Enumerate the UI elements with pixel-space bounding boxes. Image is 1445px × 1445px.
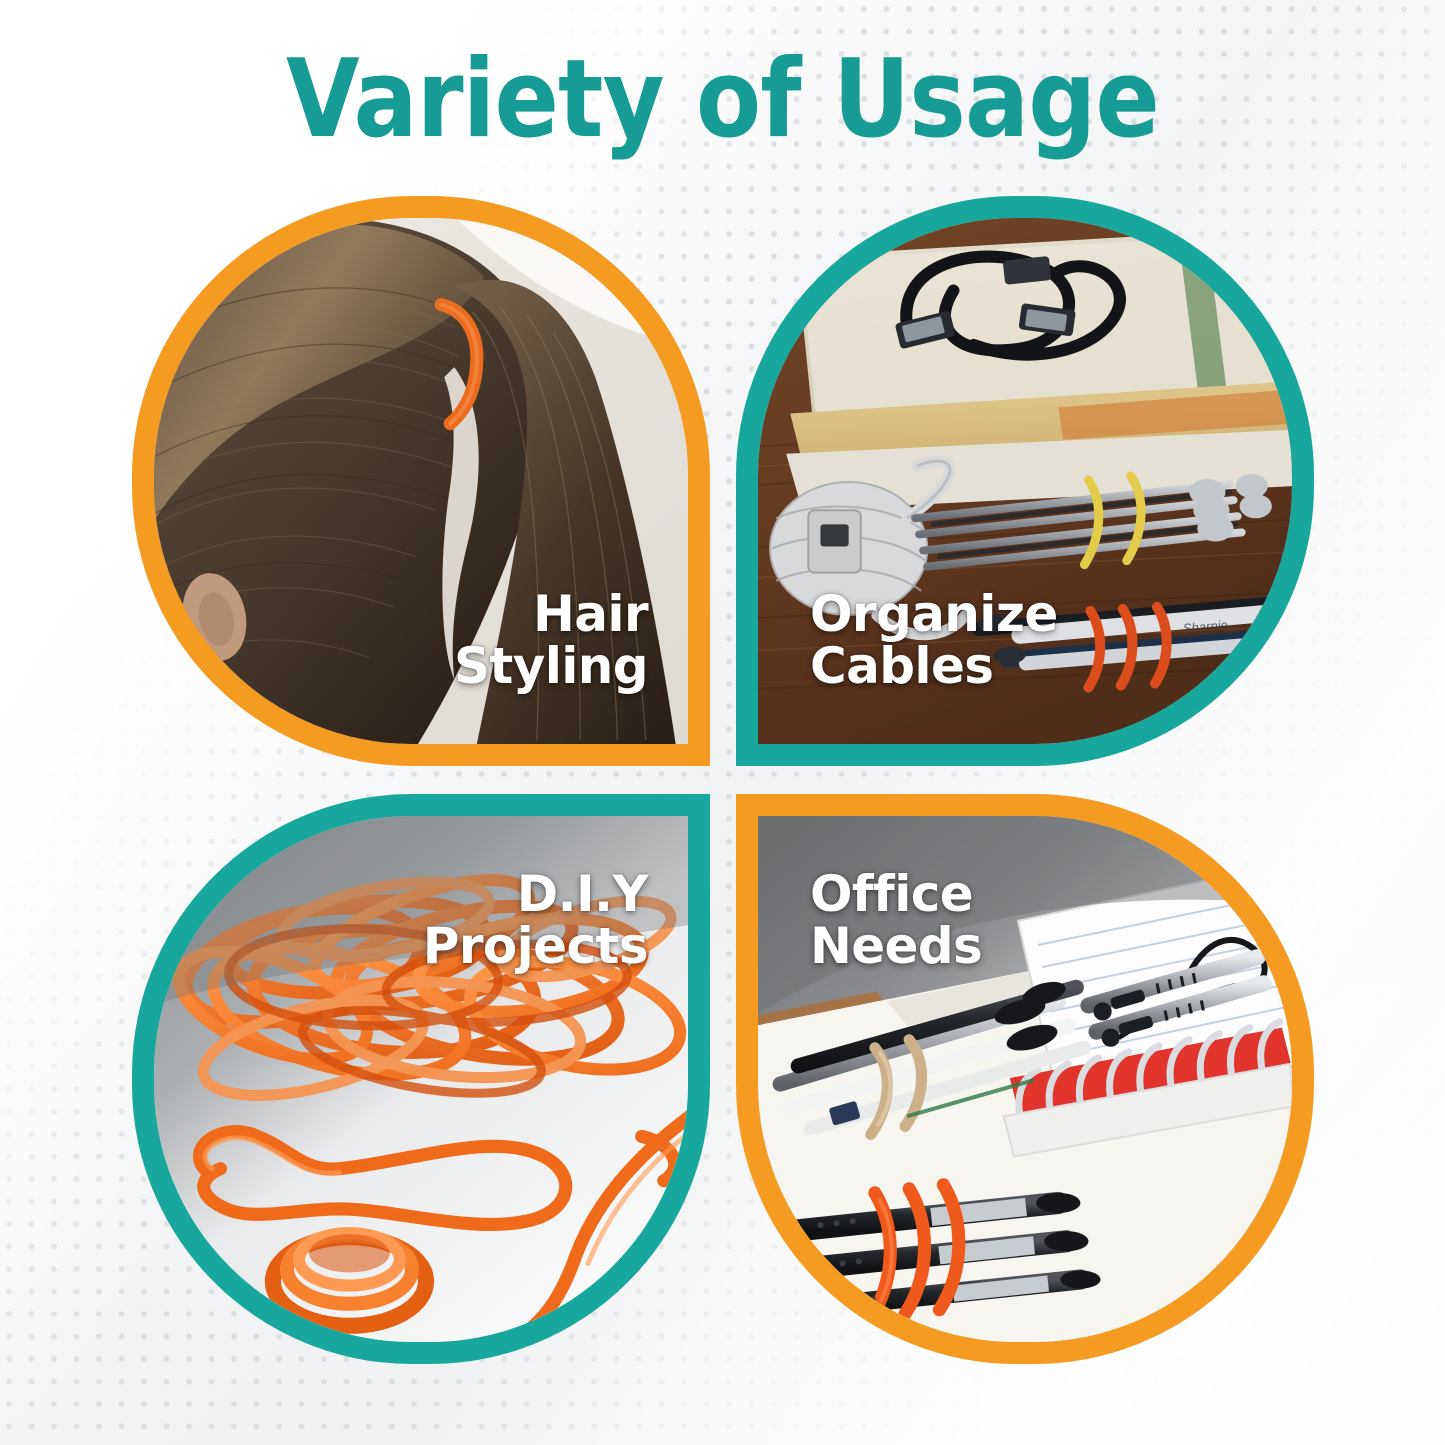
hair-styling-photo xyxy=(152,216,690,746)
infographic-canvas: Variety of Usage xyxy=(0,0,1445,1445)
diy-projects-photo xyxy=(152,814,690,1344)
petal-diy-projects[interactable]: D.I.Y Projects xyxy=(132,794,710,1364)
organize-cables-photo: Sharpie xyxy=(756,216,1294,746)
page-title: Variety of Usage xyxy=(87,46,1359,154)
petal-office-needs[interactable]: Office Needs xyxy=(736,794,1314,1364)
petal-grid: Hair Styling xyxy=(132,196,1314,1364)
petal-hair-styling[interactable]: Hair Styling xyxy=(132,196,710,766)
petal-organize-cables[interactable]: Sharpie Organize Cables xyxy=(736,196,1314,766)
office-needs-photo xyxy=(756,814,1294,1344)
